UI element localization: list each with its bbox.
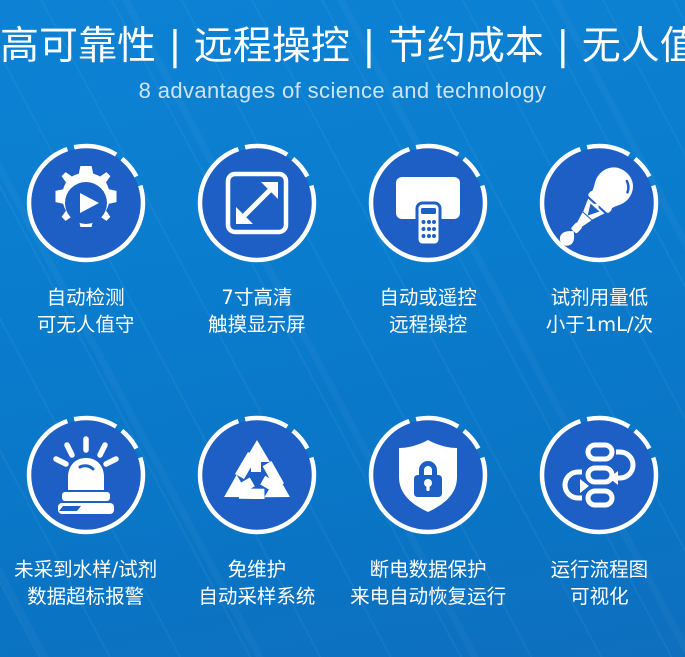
feature-line1: 未采到水样/试剂	[14, 558, 157, 581]
feature-line1: 断电数据保护	[370, 558, 487, 581]
page-subtitle: 8 advantages of science and technology	[0, 70, 685, 104]
feature-line1: 运行流程图	[551, 558, 649, 581]
feature-item-data-protection[interactable]: 断电数据保护 来电自动恢复运行	[343, 412, 514, 657]
feature-item-remote-control[interactable]: 自动或遥控 远程操控	[343, 140, 514, 412]
feature-line1: 7寸高清	[221, 286, 292, 309]
shield-lock-icon	[365, 412, 491, 538]
feature-caption: 自动检测 可无人值守	[37, 284, 135, 338]
poster-canvas: 高可靠性 | 远程操控 | 节约成本 | 无人值守 8 advantages o…	[0, 0, 685, 657]
feature-line2: 小于1mL/次	[546, 311, 653, 338]
flowchart-loop-icon	[536, 412, 662, 538]
feature-item-flowchart-visual[interactable]: 运行流程图 可视化	[514, 412, 685, 657]
feature-caption: 运行流程图 可视化	[551, 556, 649, 610]
feature-line2: 触摸显示屏	[208, 311, 306, 338]
feature-caption: 试剂用量低 小于1mL/次	[546, 284, 653, 338]
feature-line2: 数据超标报警	[14, 583, 157, 610]
recycle-icon	[194, 412, 320, 538]
page-title: 高可靠性 | 远程操控 | 节约成本 | 无人值守	[0, 0, 685, 70]
feature-line1: 自动检测	[47, 286, 125, 309]
feature-line2: 自动采样系统	[198, 583, 315, 610]
feature-item-auto-detection[interactable]: 自动检测 可无人值守	[0, 140, 171, 412]
feature-line2: 可视化	[551, 583, 649, 610]
feature-caption: 免维护 自动采样系统	[198, 556, 315, 610]
feature-line1: 免维护	[228, 558, 287, 581]
dropper-pipette-icon	[536, 140, 662, 266]
monitor-remote-wifi-icon	[365, 140, 491, 266]
feature-item-maintenance-free[interactable]: 免维护 自动采样系统	[171, 412, 342, 657]
feature-caption: 自动或遥控 远程操控	[379, 284, 477, 338]
feature-caption: 7寸高清 触摸显示屏	[208, 284, 306, 338]
feature-line2: 远程操控	[379, 311, 477, 338]
feature-item-low-reagent[interactable]: 试剂用量低 小于1mL/次	[514, 140, 685, 412]
feature-line1: 试剂用量低	[551, 286, 649, 309]
feature-item-touch-display[interactable]: 7寸高清 触摸显示屏	[171, 140, 342, 412]
header: 高可靠性 | 远程操控 | 节约成本 | 无人值守 8 advantages o…	[0, 0, 685, 104]
feature-line2: 来电自动恢复运行	[350, 583, 506, 610]
alarm-siren-icon	[23, 412, 149, 538]
feature-item-alarm[interactable]: 未采到水样/试剂 数据超标报警	[0, 412, 171, 657]
gear-play-icon	[23, 140, 149, 266]
feature-grid: 自动检测 可无人值守 7寸高清 触摸显示屏	[0, 140, 685, 657]
feature-caption: 断电数据保护 来电自动恢复运行	[350, 556, 506, 610]
feature-line1: 自动或遥控	[379, 286, 477, 309]
expand-screen-icon	[194, 140, 320, 266]
feature-line2: 可无人值守	[37, 311, 135, 338]
feature-caption: 未采到水样/试剂 数据超标报警	[14, 556, 157, 610]
